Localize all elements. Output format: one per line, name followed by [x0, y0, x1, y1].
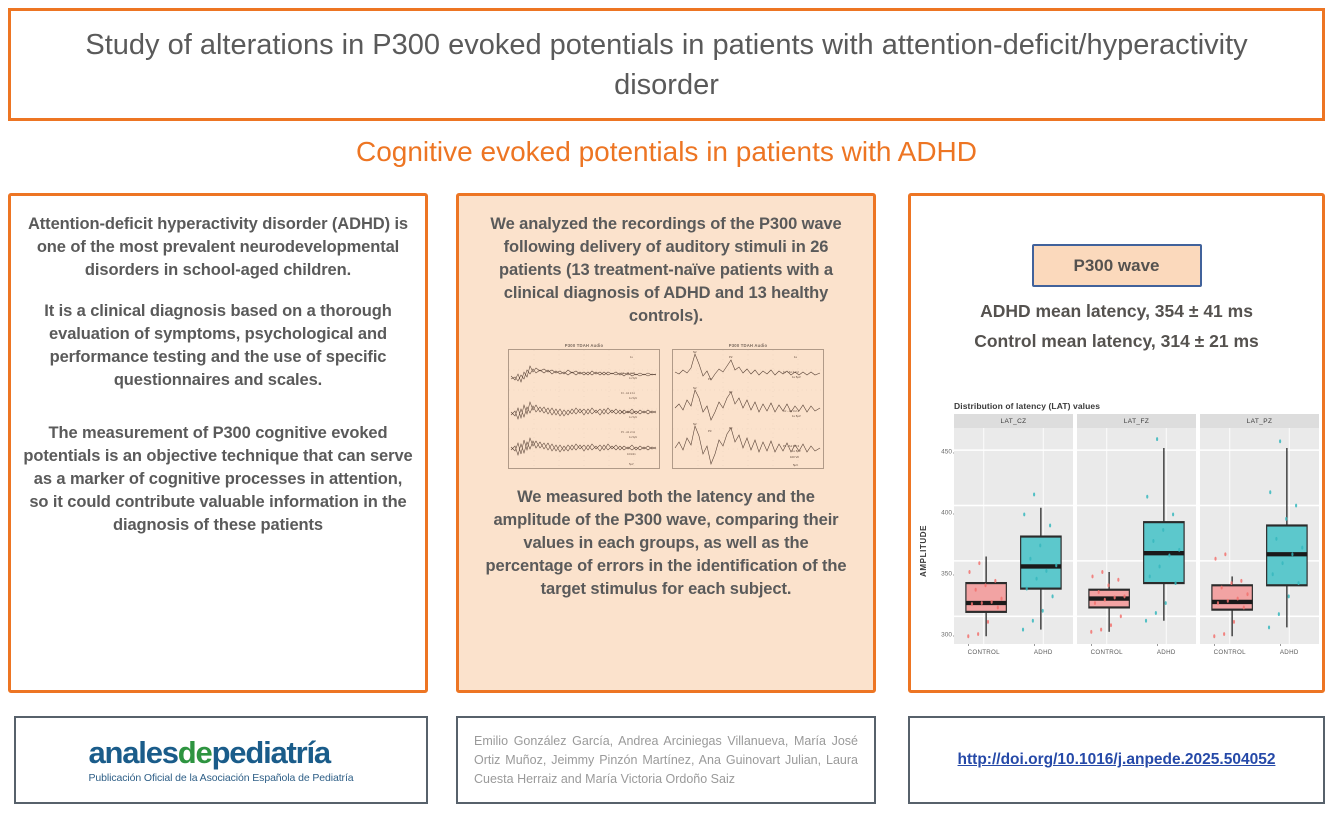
- svg-text:1s 5µV: 1s 5µV: [792, 414, 801, 418]
- svg-text:Fz - A1 2.11: Fz - A1 2.11: [621, 391, 635, 395]
- svg-text:Cz - A1 3.2.2: Cz - A1 3.2.2: [783, 409, 800, 413]
- journal-tagline: Publicación Oficial de la Asociación Esp…: [88, 772, 353, 784]
- title-box: Study of alterations in P300 evoked pote…: [8, 8, 1325, 121]
- svg-text:N2: N2: [693, 386, 697, 390]
- svg-text:1s 5µV: 1s 5µV: [629, 435, 637, 439]
- page-subtitle: Cognitive evoked potentials in patients …: [0, 136, 1333, 168]
- x-tick-label: CONTROL: [954, 644, 1014, 666]
- svg-text:N2: N2: [693, 350, 697, 354]
- eeg-traces-right-icon: N2 P3 P2 N2 P2 N2 P3 P2 1s Fz - A1 2.2.2…: [673, 350, 823, 468]
- svg-text:Cz - A1 1.21: Cz - A1 1.21: [621, 371, 636, 375]
- chart-y-axis-ticks: 300350400450: [930, 414, 954, 666]
- svg-text:1s 5µV: 1s 5µV: [792, 449, 801, 453]
- svg-text:10/1/21: 10/1/21: [627, 452, 636, 456]
- x-tick-label: ADHD: [1014, 644, 1074, 666]
- authors-box: Emilio González García, Andrea Arciniega…: [456, 716, 876, 804]
- latency-boxplot-chart: Distribution of latency (LAT) values AMP…: [917, 401, 1319, 683]
- facet-x-axis: CONTROLADHD: [1077, 644, 1196, 666]
- x-tick-label: ADHD: [1260, 644, 1320, 666]
- svg-text:Pz - A1 2.11: Pz - A1 2.11: [621, 430, 635, 434]
- svg-text:P2: P2: [729, 355, 733, 359]
- facet-boxplot-graphic: [954, 428, 1073, 644]
- svg-text:1s 5µV: 1s 5µV: [629, 376, 637, 380]
- y-tick-label: 450: [941, 449, 952, 456]
- svg-text:1s 5µV: 1s 5µV: [629, 396, 637, 400]
- eeg-caption-right: P300 TDAH Audio: [670, 341, 826, 348]
- x-tick-label: CONTROL: [1077, 644, 1137, 666]
- eeg-recording-figure: P300 TDAH Audio: [506, 341, 826, 476]
- facet-strip-label: LAT_FZ: [1077, 414, 1196, 428]
- x-tick-label: CONTROL: [1200, 644, 1260, 666]
- methods-paragraph-bottom: We measured both the latency and the amp…: [459, 486, 873, 601]
- facet-strip-label: LAT_CZ: [954, 414, 1073, 428]
- y-tick-label: 400: [941, 510, 952, 517]
- facet-boxplot-graphic: [1200, 428, 1319, 644]
- chart-facet: LAT_PZCONTROLADHD: [1200, 414, 1319, 666]
- svg-text:Fz - A1 2.2.2: Fz - A1 2.2.2: [783, 370, 799, 374]
- facet-boxplot-graphic: [1077, 428, 1196, 644]
- eeg-traces-left-icon: 1s Cz - A1 1.21 1s 5µV Fz - A1 2.11 1s 5…: [509, 350, 659, 468]
- facet-plot-panel: [1077, 428, 1196, 644]
- doi-link[interactable]: http://doi.org/10.1016/j.anpede.2025.504…: [958, 751, 1276, 769]
- latency-adhd-text: ADHD mean latency, 354 ± 41 ms: [911, 301, 1322, 322]
- svg-text:P2: P2: [729, 426, 733, 430]
- svg-text:P3: P3: [708, 377, 712, 381]
- facet-x-axis: CONTROLADHD: [954, 644, 1073, 666]
- chart-y-axis-label: AMPLITUDE: [917, 414, 930, 666]
- eeg-plot-right: N2 P3 P2 N2 P2 N2 P3 P2 1s Fz - A1 2.2.2…: [672, 349, 824, 469]
- svg-text:Cz - A1 1.21: Cz - A1 1.21: [621, 410, 636, 414]
- svg-text:5µV: 5µV: [629, 462, 634, 466]
- background-paragraph-1: Attention-deficit hyperactivity disorder…: [11, 213, 425, 282]
- svg-text:P2: P2: [729, 390, 733, 394]
- authors-list: Emilio González García, Andrea Arciniega…: [458, 732, 874, 789]
- svg-text:1s: 1s: [794, 355, 798, 359]
- chart-facet: LAT_FZCONTROLADHD: [1077, 414, 1196, 666]
- chart-facet-container: LAT_CZCONTROLADHDLAT_FZCONTROLADHDLAT_PZ…: [954, 414, 1319, 666]
- facet-strip-label: LAT_PZ: [1200, 414, 1319, 428]
- methods-paragraph-top: We analyzed the recordings of the P300 w…: [459, 213, 873, 328]
- svg-text:P3: P3: [708, 429, 712, 433]
- svg-text:1s 5µV: 1s 5µV: [792, 375, 801, 379]
- page-title: Study of alterations in P300 evoked pote…: [11, 25, 1322, 105]
- svg-text:5µV: 5µV: [793, 463, 798, 467]
- panel-methods: We analyzed the recordings of the P300 w…: [456, 193, 876, 693]
- y-tick-label: 300: [941, 632, 952, 639]
- logo-part-pediatria: pediatría: [212, 735, 330, 770]
- journal-logo: analesdepediatría: [88, 737, 353, 768]
- facet-plot-panel: [954, 428, 1073, 644]
- background-paragraph-3: The measurement of P300 cognitive evoked…: [11, 422, 425, 537]
- y-tick-label: 350: [941, 571, 952, 578]
- x-tick-label: ADHD: [1137, 644, 1197, 666]
- p300-wave-badge: P300 wave: [1032, 244, 1202, 287]
- svg-text:100 V0: 100 V0: [790, 455, 799, 459]
- panel-background-info: Attention-deficit hyperactivity disorder…: [8, 193, 428, 693]
- latency-control-text: Control mean latency, 314 ± 21 ms: [911, 331, 1322, 352]
- eeg-card-right: P300 TDAH Audio: [670, 341, 826, 476]
- eeg-plot-left: 1s Cz - A1 1.21 1s 5µV Fz - A1 2.11 1s 5…: [508, 349, 660, 469]
- logo-part-de: de: [178, 735, 212, 770]
- svg-text:Pz - A1 3.3.3: Pz - A1 3.3.3: [783, 444, 799, 448]
- svg-text:1s: 1s: [630, 355, 633, 359]
- journal-logo-box: analesdepediatría Publicación Oficial de…: [14, 716, 428, 804]
- chart-title: Distribution of latency (LAT) values: [954, 401, 1319, 411]
- logo-part-anales: anales: [88, 735, 177, 770]
- chart-facet: LAT_CZCONTROLADHD: [954, 414, 1073, 666]
- eeg-caption-left: P300 TDAH Audio: [506, 341, 662, 348]
- doi-box: http://doi.org/10.1016/j.anpede.2025.504…: [908, 716, 1325, 804]
- svg-text:N2: N2: [693, 422, 697, 426]
- panel-results: P300 wave ADHD mean latency, 354 ± 41 ms…: [908, 193, 1325, 693]
- eeg-card-left: P300 TDAH Audio: [506, 341, 662, 476]
- svg-text:1s 5µV: 1s 5µV: [629, 415, 637, 419]
- background-paragraph-2: It is a clinical diagnosis based on a th…: [11, 300, 425, 392]
- facet-x-axis: CONTROLADHD: [1200, 644, 1319, 666]
- facet-plot-panel: [1200, 428, 1319, 644]
